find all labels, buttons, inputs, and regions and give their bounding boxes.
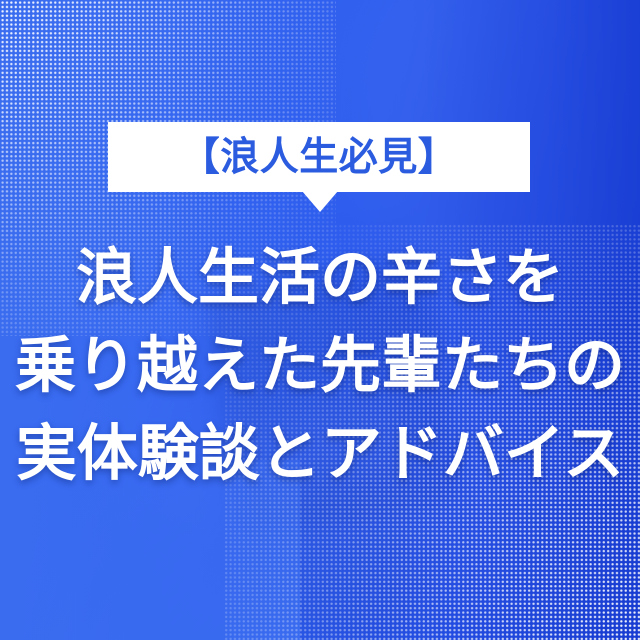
headline-block: 浪人生活の辛さを 乗り越えた先輩たちの 実体験談とアドバイス [0, 233, 640, 497]
promo-banner: 【浪人生必見】 浪人生活の辛さを 乗り越えた先輩たちの 実体験談とアドバイス [0, 0, 640, 640]
headline-line-1: 浪人生活の辛さを [0, 233, 640, 321]
badge-banner: 【浪人生必見】 [108, 122, 530, 192]
headline-line-2: 乗り越えた先輩たちの [0, 321, 640, 409]
headline-line-3: 実体験談とアドバイス [0, 409, 640, 497]
badge-pointer-triangle [302, 191, 338, 212]
badge-label: 【浪人生必見】 [181, 138, 458, 177]
